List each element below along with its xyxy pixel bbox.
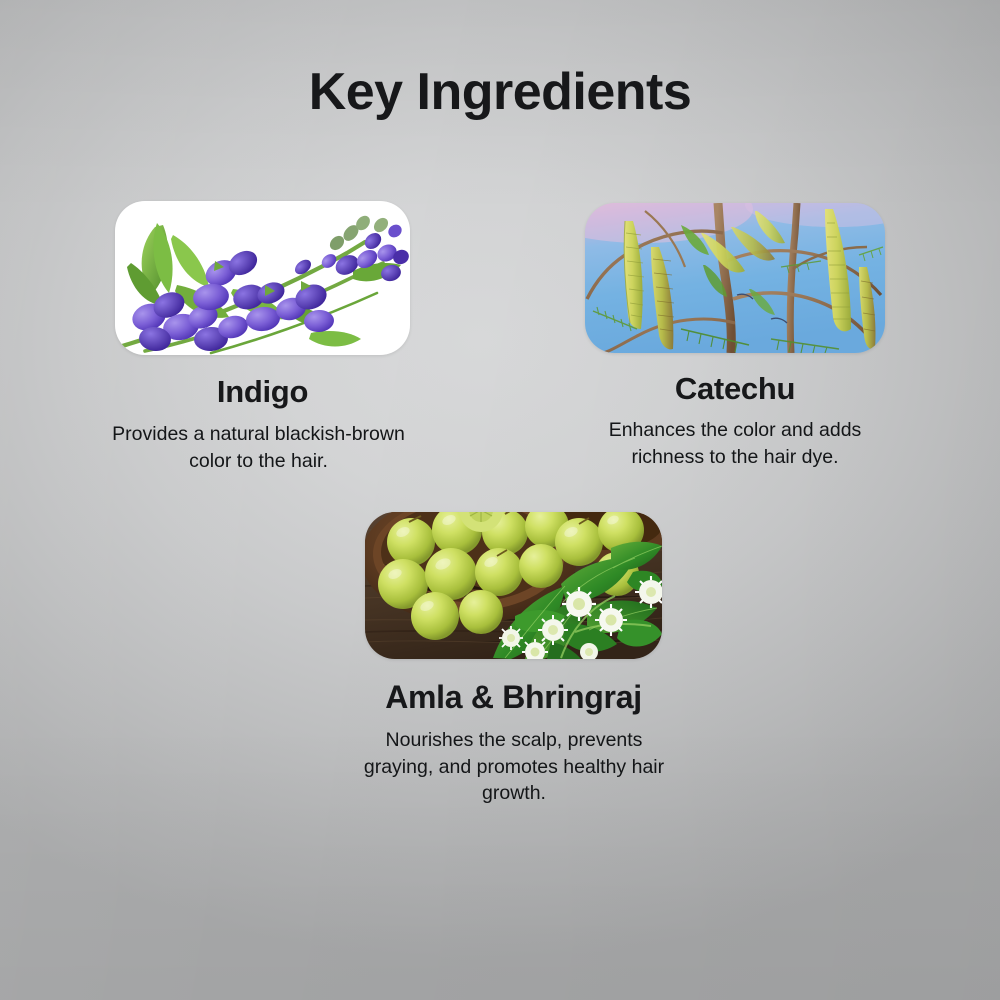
page-title: Key Ingredients [0, 62, 1000, 122]
amla-bhringraj-image [365, 512, 662, 659]
indigo-image [115, 201, 410, 355]
ingredient-card-indigo: Indigo Provides a natural blackish-brown… [115, 201, 410, 474]
ingredient-title-amla: Amla & Bhringraj [365, 679, 662, 716]
ingredient-description-indigo: Provides a natural blackish-brown color … [111, 421, 406, 474]
ingredient-title-indigo: Indigo [115, 374, 410, 410]
ingredient-description-catechu: Enhances the color and adds richness to … [601, 417, 869, 470]
poster-background: Key Ingredients [0, 0, 1000, 1000]
amla-bhringraj-illustration [365, 512, 662, 659]
ingredient-title-catechu: Catechu [585, 371, 885, 407]
catechu-illustration [585, 203, 885, 353]
catechu-image [585, 203, 885, 353]
indigo-illustration [115, 201, 410, 355]
ingredient-description-amla: Nourishes the scalp, prevents graying, a… [354, 727, 674, 807]
ingredient-card-amla: Amla & Bhringraj Nourishes the scalp, pr… [365, 512, 662, 807]
ingredient-card-catechu: Catechu Enhances the color and adds rich… [585, 203, 885, 470]
